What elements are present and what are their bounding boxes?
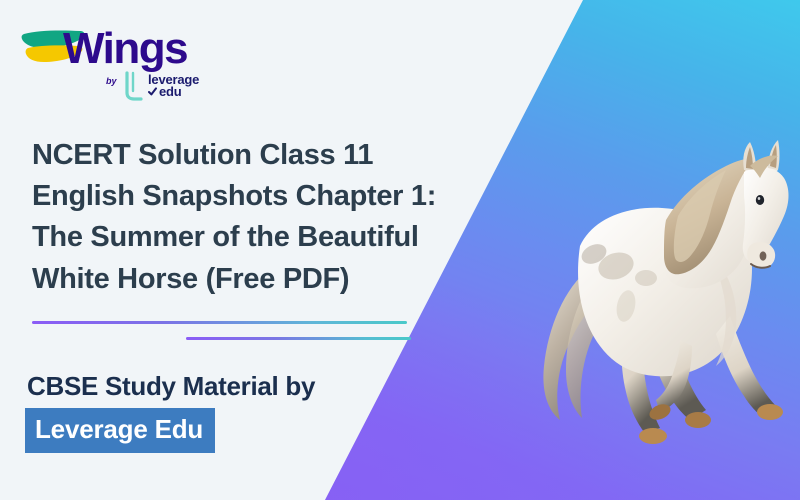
check-icon [148,87,157,96]
leverage-edu-sublogo-text: leverage edu [148,74,199,98]
divider-line-top [32,321,407,324]
footer-caption: CBSE Study Material by [27,371,315,402]
promo-banner: Wings by leverage edu NCERT Solut [0,0,800,500]
sublogo-line-edu: edu [159,86,182,98]
white-horse-illustration [520,120,800,460]
logo-by-label: by [106,76,117,86]
wings-logo[interactable]: Wings by leverage edu [18,14,218,106]
headline-line-3: The Summer of the Beautiful [32,217,452,258]
headline-line-2: English Snapshots Chapter 1: [32,176,452,217]
leverage-edu-sublogo: leverage edu [123,71,199,101]
headline-line-1: NCERT Solution Class 11 [32,135,452,176]
divider-line-bottom [186,337,411,340]
headline-line-4: White Horse (Free PDF) [32,259,452,300]
page-title: NCERT Solution Class 11 English Snapshot… [32,135,452,300]
brand-badge[interactable]: Leverage Edu [25,408,215,453]
wings-wordmark: Wings [63,27,187,71]
leverage-edu-mark-icon [123,71,145,101]
